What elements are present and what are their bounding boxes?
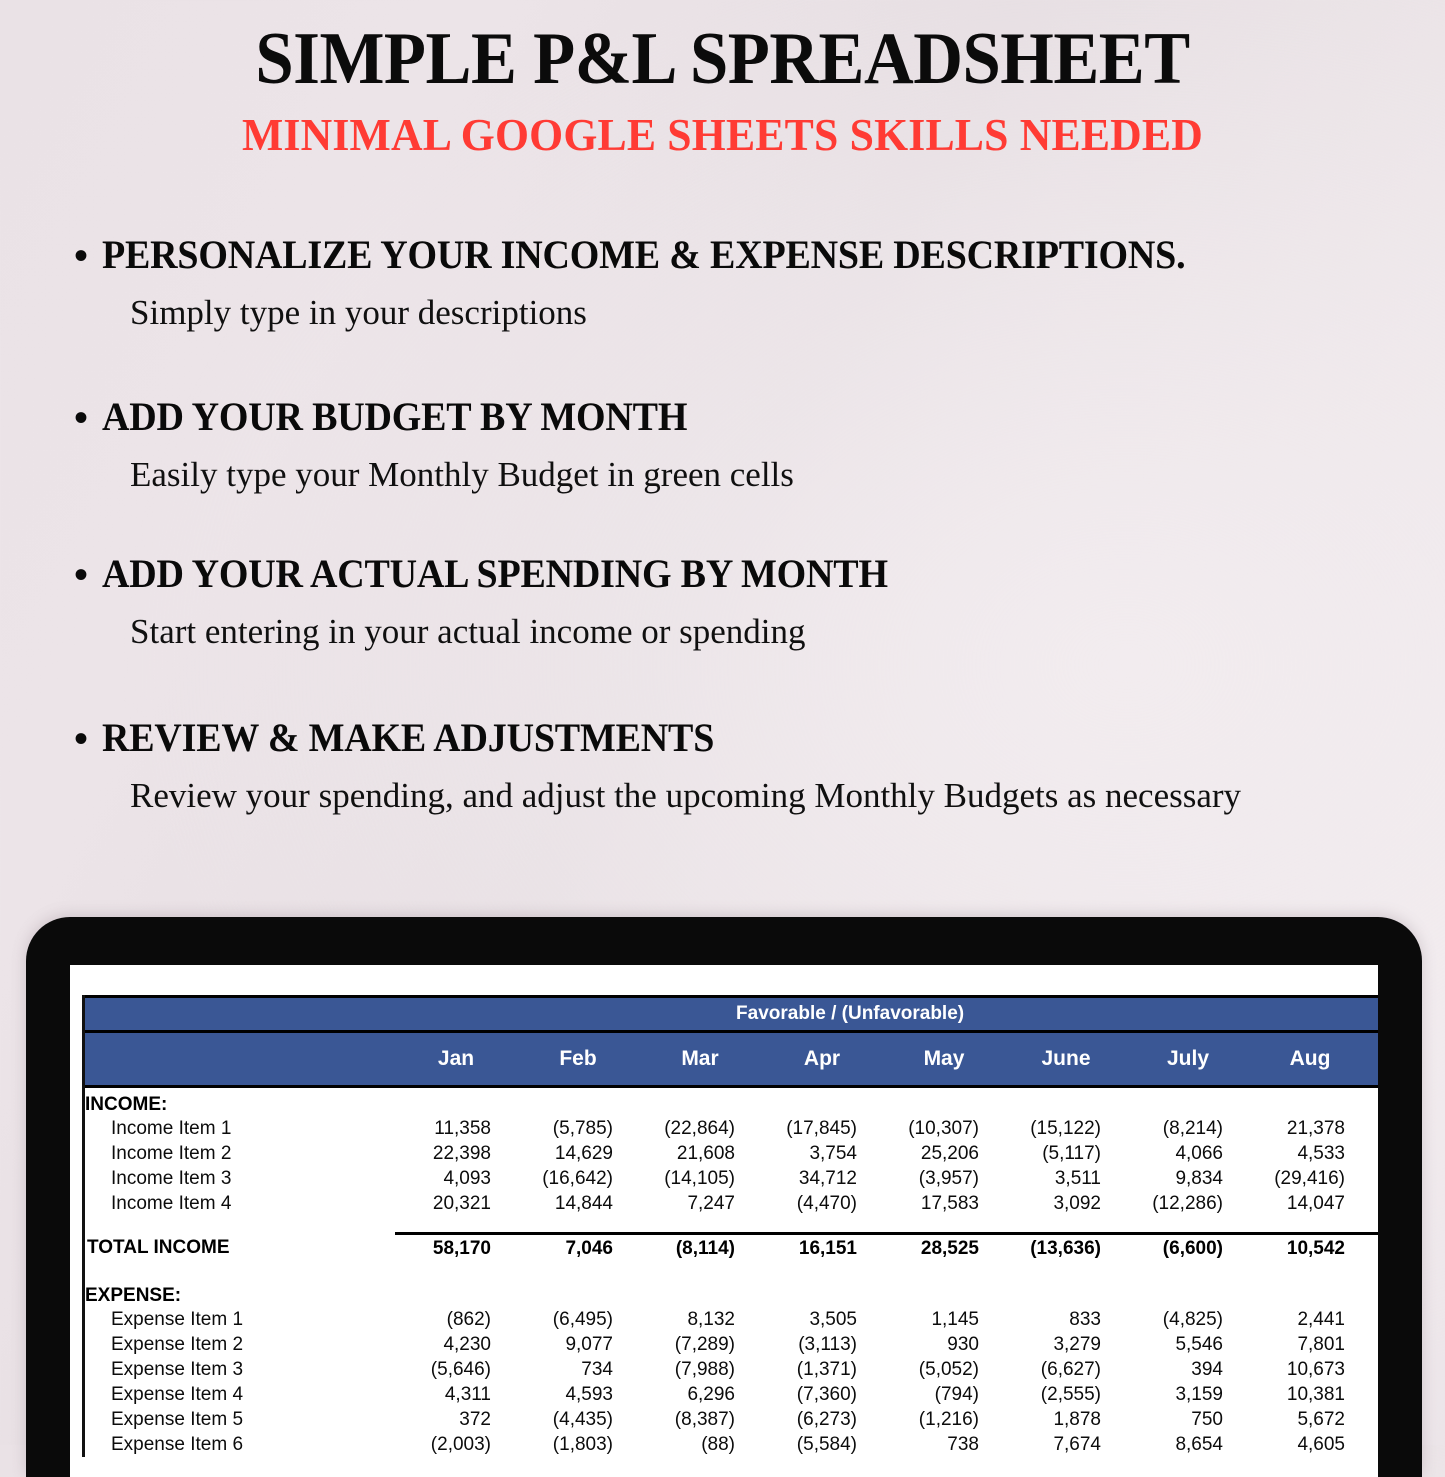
cell-value[interactable]: 1,08 [1371, 1307, 1378, 1332]
cell-value[interactable]: (8,387) [639, 1407, 761, 1432]
spacer [74, 659, 1405, 717]
cell-value[interactable]: 2,88 [1371, 1357, 1378, 1382]
row-label[interactable]: Expense Item 4 [85, 1382, 395, 1407]
bullet-dot-icon: • [74, 555, 88, 595]
title-block: SIMPLE P&L SPREADSHEET MINIMAL GOOGLE SH… [0, 22, 1445, 160]
cell-value[interactable]: 394 [1127, 1357, 1249, 1382]
cell-value[interactable]: 17,583 [883, 1191, 1005, 1216]
bullet-detail: Easily type your Monthly Budget in green… [130, 449, 1405, 502]
list-item: • ADD YOUR ACTUAL SPENDING BY MONTH Star… [74, 553, 1405, 659]
expense-section-label: EXPENSE: [85, 1279, 1378, 1307]
cell-value[interactable]: 34,712 [761, 1166, 883, 1191]
cell-value: 28,525 [883, 1234, 1005, 1264]
cell-value[interactable]: 10,673 [1249, 1357, 1371, 1382]
bullet-heading: PERSONALIZE YOUR INCOME & EXPENSE DESCRI… [102, 234, 1185, 276]
row-label[interactable]: Expense Item 3 [85, 1357, 395, 1382]
tablet-device-frame: Favorable / (Unfavorable) Jan Feb Mar Ap… [26, 917, 1422, 1477]
bullet-heading-row: • PERSONALIZE YOUR INCOME & EXPENSE DESC… [74, 234, 1405, 276]
cell-value[interactable]: 14,844 [517, 1191, 639, 1216]
cell-value[interactable]: 3,511 [1005, 1166, 1127, 1191]
cell-value[interactable]: 22 [1371, 1407, 1378, 1432]
cell-value[interactable]: 3,159 [1127, 1382, 1249, 1407]
cell-value[interactable]: 21,378 [1249, 1116, 1371, 1141]
income-section-label: INCOME: [85, 1087, 1378, 1117]
cell-value[interactable]: (22,864) [639, 1116, 761, 1141]
bullet-heading-row: • ADD YOUR ACTUAL SPENDING BY MONTH [74, 553, 1405, 595]
list-item: • PERSONALIZE YOUR INCOME & EXPENSE DESC… [74, 234, 1405, 340]
cell-value[interactable]: 4,593 [517, 1382, 639, 1407]
cell-value: (8,114) [639, 1234, 761, 1264]
pl-spreadsheet[interactable]: Favorable / (Unfavorable) Jan Feb Mar Ap… [82, 995, 1378, 1457]
table-row[interactable]: Expense Item 4 4,311 4,593 6,296 (7,360)… [85, 1382, 1378, 1407]
cell-value[interactable]: (5,785) [517, 1116, 639, 1141]
row-label[interactable]: Income Item 3 [85, 1166, 395, 1191]
column-header-june[interactable]: June [1005, 1032, 1127, 1087]
cell-value[interactable]: 14,047 [1249, 1191, 1371, 1216]
bullet-heading: ADD YOUR BUDGET BY MONTH [102, 396, 687, 438]
cell-value[interactable]: 4,093 [395, 1166, 517, 1191]
cell-value[interactable]: (5,052) [883, 1357, 1005, 1382]
cell-value[interactable]: (4,470) [761, 1191, 883, 1216]
bullet-heading-row: • ADD YOUR BUDGET BY MONTH [74, 396, 1405, 438]
pl-table: Favorable / (Unfavorable) Jan Feb Mar Ap… [85, 995, 1378, 1457]
cell-value[interactable]: 3,279 [1005, 1332, 1127, 1357]
table-header-row: Jan Feb Mar Apr May June July Aug Sept O… [85, 1032, 1378, 1087]
cell-value[interactable]: 9,834 [1127, 1166, 1249, 1191]
column-header-jan[interactable]: Jan [395, 1032, 517, 1087]
cell-value[interactable]: (6,627) [1005, 1357, 1127, 1382]
cell-value[interactable]: (3,113) [761, 1332, 883, 1357]
cell-value[interactable]: 24,49 [1371, 1191, 1378, 1216]
row-label[interactable]: Income Item 4 [85, 1191, 395, 1216]
cell-value[interactable]: 25,02 [1371, 1166, 1378, 1191]
list-item: • ADD YOUR BUDGET BY MONTH Easily type y… [74, 396, 1405, 502]
cell-value[interactable]: (16,642) [517, 1166, 639, 1191]
table-row[interactable]: Expense Item 5 372 (4,435) (8,387) (6,27… [85, 1407, 1378, 1432]
page-subtitle: MINIMAL GOOGLE SHEETS SKILLS NEEDED [36, 111, 1409, 159]
cell-value[interactable]: 20,321 [395, 1191, 517, 1216]
cell-value[interactable]: 5,546 [1127, 1332, 1249, 1357]
table-row[interactable]: Expense Item 2 4,230 9,077 (7,289) (3,11… [85, 1332, 1378, 1357]
table-banner-row: Favorable / (Unfavorable) [85, 997, 1378, 1032]
cell-value: 16,151 [761, 1234, 883, 1264]
cell-value[interactable]: (862) [395, 1307, 517, 1332]
table-row[interactable]: Income Item 1 11,358 (5,785) (22,864) (1… [85, 1116, 1378, 1141]
cell-value[interactable]: 11,358 [395, 1116, 517, 1141]
cell-value[interactable]: 25,206 [883, 1141, 1005, 1166]
cell-value[interactable]: (15, [1371, 1116, 1378, 1141]
cell-value[interactable]: 750 [1127, 1407, 1249, 1432]
column-header-feb[interactable]: Feb [517, 1032, 639, 1087]
expense-section-header-row: EXPENSE: [85, 1279, 1378, 1307]
cell-value[interactable]: 22,398 [395, 1141, 517, 1166]
table-row[interactable]: Income Item 2 22,398 14,629 21,608 3,754… [85, 1141, 1378, 1166]
cell-value[interactable]: 7,801 [1249, 1332, 1371, 1357]
cell-value[interactable]: (4,825) [1127, 1307, 1249, 1332]
cell-value[interactable]: (7,360) [761, 1382, 883, 1407]
cell-value[interactable]: 930 [883, 1332, 1005, 1357]
cell-value: 7,046 [517, 1234, 639, 1264]
cell-value[interactable]: 3,092 [1005, 1191, 1127, 1216]
row-label[interactable]: Expense Item 2 [85, 1332, 395, 1357]
cell-value[interactable]: (3,957) [883, 1166, 1005, 1191]
bullet-detail: Start entering in your actual income or … [130, 606, 1405, 659]
cell-value[interactable]: 9,077 [517, 1332, 639, 1357]
total-income-row[interactable]: TOTAL INCOME 58,170 7,046 (8,114) 16,151… [85, 1234, 1378, 1264]
cell-value[interactable]: (4,435) [517, 1407, 639, 1432]
spacer-row [85, 1216, 1378, 1234]
column-header-apr[interactable]: Apr [761, 1032, 883, 1087]
table-row[interactable]: Expense Item 1 (862) (6,495) 8,132 3,505… [85, 1307, 1378, 1332]
table-row[interactable]: Expense Item 3 (5,646) 734 (7,988) (1,37… [85, 1357, 1378, 1382]
cell-value: (6,600) [1127, 1234, 1249, 1264]
cell-value[interactable]: (1,91 [1371, 1141, 1378, 1166]
bullet-dot-icon: • [74, 236, 88, 276]
cell-value[interactable]: (6,495) [517, 1307, 639, 1332]
cell-value[interactable]: 1,878 [1005, 1407, 1127, 1432]
cell-value[interactable]: (5,646) [395, 1357, 517, 1382]
bullet-dot-icon: • [74, 719, 88, 759]
cell-value: 58,170 [395, 1234, 517, 1264]
row-label: TOTAL INCOME [85, 1234, 395, 1264]
cell-value[interactable]: 10,381 [1249, 1382, 1371, 1407]
cell-value[interactable]: 372 [395, 1407, 517, 1432]
list-item: • REVIEW & MAKE ADJUSTMENTS Review your … [74, 717, 1405, 823]
cell-value[interactable]: 4,066 [1127, 1141, 1249, 1166]
cell-value[interactable]: 4,533 [1249, 1141, 1371, 1166]
cell-value[interactable]: (2,48 [1371, 1332, 1378, 1357]
cell-value[interactable]: (6,273) [761, 1407, 883, 1432]
cell-value[interactable]: 3,505 [761, 1307, 883, 1332]
table-row[interactable]: Income Item 4 20,321 14,844 7,247 (4,470… [85, 1191, 1378, 1216]
column-header-sept[interactable]: Sept [1371, 1032, 1378, 1087]
cell-value[interactable]: 1,145 [883, 1307, 1005, 1332]
page-title: SIMPLE P&L SPREADSHEET [51, 22, 1395, 97]
cell-value[interactable]: 7,247 [639, 1191, 761, 1216]
spacer [74, 340, 1405, 396]
cell-value[interactable]: 8,132 [639, 1307, 761, 1332]
bullet-heading: REVIEW & MAKE ADJUSTMENTS [102, 717, 714, 759]
cell-value[interactable]: 3,754 [761, 1141, 883, 1166]
favorable-banner: Favorable / (Unfavorable) [85, 997, 1378, 1032]
column-header-may[interactable]: May [883, 1032, 1005, 1087]
header-blank-cell [85, 1032, 395, 1087]
cell-value[interactable]: (14,105) [639, 1166, 761, 1191]
spacer-row [85, 1263, 1378, 1279]
row-label[interactable]: Income Item 1 [85, 1116, 395, 1141]
column-header-mar[interactable]: Mar [639, 1032, 761, 1087]
cell-value[interactable]: (17,845) [761, 1116, 883, 1141]
cell-value[interactable]: (5,117) [1005, 1141, 1127, 1166]
feature-bullet-list: • PERSONALIZE YOUR INCOME & EXPENSE DESC… [74, 234, 1405, 822]
cell-value[interactable]: 833 [1005, 1307, 1127, 1332]
cell-value[interactable]: 21,608 [639, 1141, 761, 1166]
cell-value[interactable]: 734 [517, 1357, 639, 1382]
cell-value[interactable]: (1,216) [883, 1407, 1005, 1432]
cell-value[interactable]: 2,441 [1249, 1307, 1371, 1332]
cell-value[interactable]: 4,230 [395, 1332, 517, 1357]
cell-value[interactable]: 6,296 [639, 1382, 761, 1407]
cell-value[interactable]: (2,555) [1005, 1382, 1127, 1407]
spacer [74, 501, 1405, 553]
cell-value[interactable]: (7,988) [639, 1357, 761, 1382]
cell-value[interactable]: 5,672 [1249, 1407, 1371, 1432]
column-header-aug[interactable]: Aug [1249, 1032, 1371, 1087]
cell-value[interactable]: 14,629 [517, 1141, 639, 1166]
bullet-detail: Simply type in your descriptions [130, 287, 1405, 340]
cell-value[interactable]: (794) [883, 1382, 1005, 1407]
income-section-header-row: INCOME: [85, 1087, 1378, 1117]
cell-value[interactable]: (1,371) [761, 1357, 883, 1382]
cell-value[interactable]: (8,214) [1127, 1116, 1249, 1141]
column-header-july[interactable]: July [1127, 1032, 1249, 1087]
row-label[interactable]: Expense Item 5 [85, 1407, 395, 1432]
cell-value[interactable]: (10,307) [883, 1116, 1005, 1141]
cell-value[interactable]: 4,311 [395, 1382, 517, 1407]
cell-value: 10,542 [1249, 1234, 1371, 1264]
bullet-heading: ADD YOUR ACTUAL SPENDING BY MONTH [102, 553, 888, 595]
cell-value[interactable]: (7,289) [639, 1332, 761, 1357]
row-label[interactable]: Income Item 2 [85, 1141, 395, 1166]
cell-value[interactable]: (29,416) [1249, 1166, 1371, 1191]
cell-value[interactable]: (7,31 [1371, 1382, 1378, 1407]
cell-value: 47,45 [1371, 1234, 1378, 1264]
cell-value[interactable]: (12,286) [1127, 1191, 1249, 1216]
row-label[interactable]: Expense Item 1 [85, 1307, 395, 1332]
poster-page: SIMPLE P&L SPREADSHEET MINIMAL GOOGLE SH… [0, 0, 1445, 1445]
cell-value: (13,636) [1005, 1234, 1127, 1264]
cell-value[interactable]: (15,122) [1005, 1116, 1127, 1141]
bullet-dot-icon: • [74, 398, 88, 438]
bullet-heading-row: • REVIEW & MAKE ADJUSTMENTS [74, 717, 1405, 759]
bullet-detail: Review your spending, and adjust the upc… [130, 770, 1405, 823]
table-row[interactable]: Income Item 3 4,093 (16,642) (14,105) 34… [85, 1166, 1378, 1191]
tablet-screen: Favorable / (Unfavorable) Jan Feb Mar Ap… [70, 965, 1378, 1477]
